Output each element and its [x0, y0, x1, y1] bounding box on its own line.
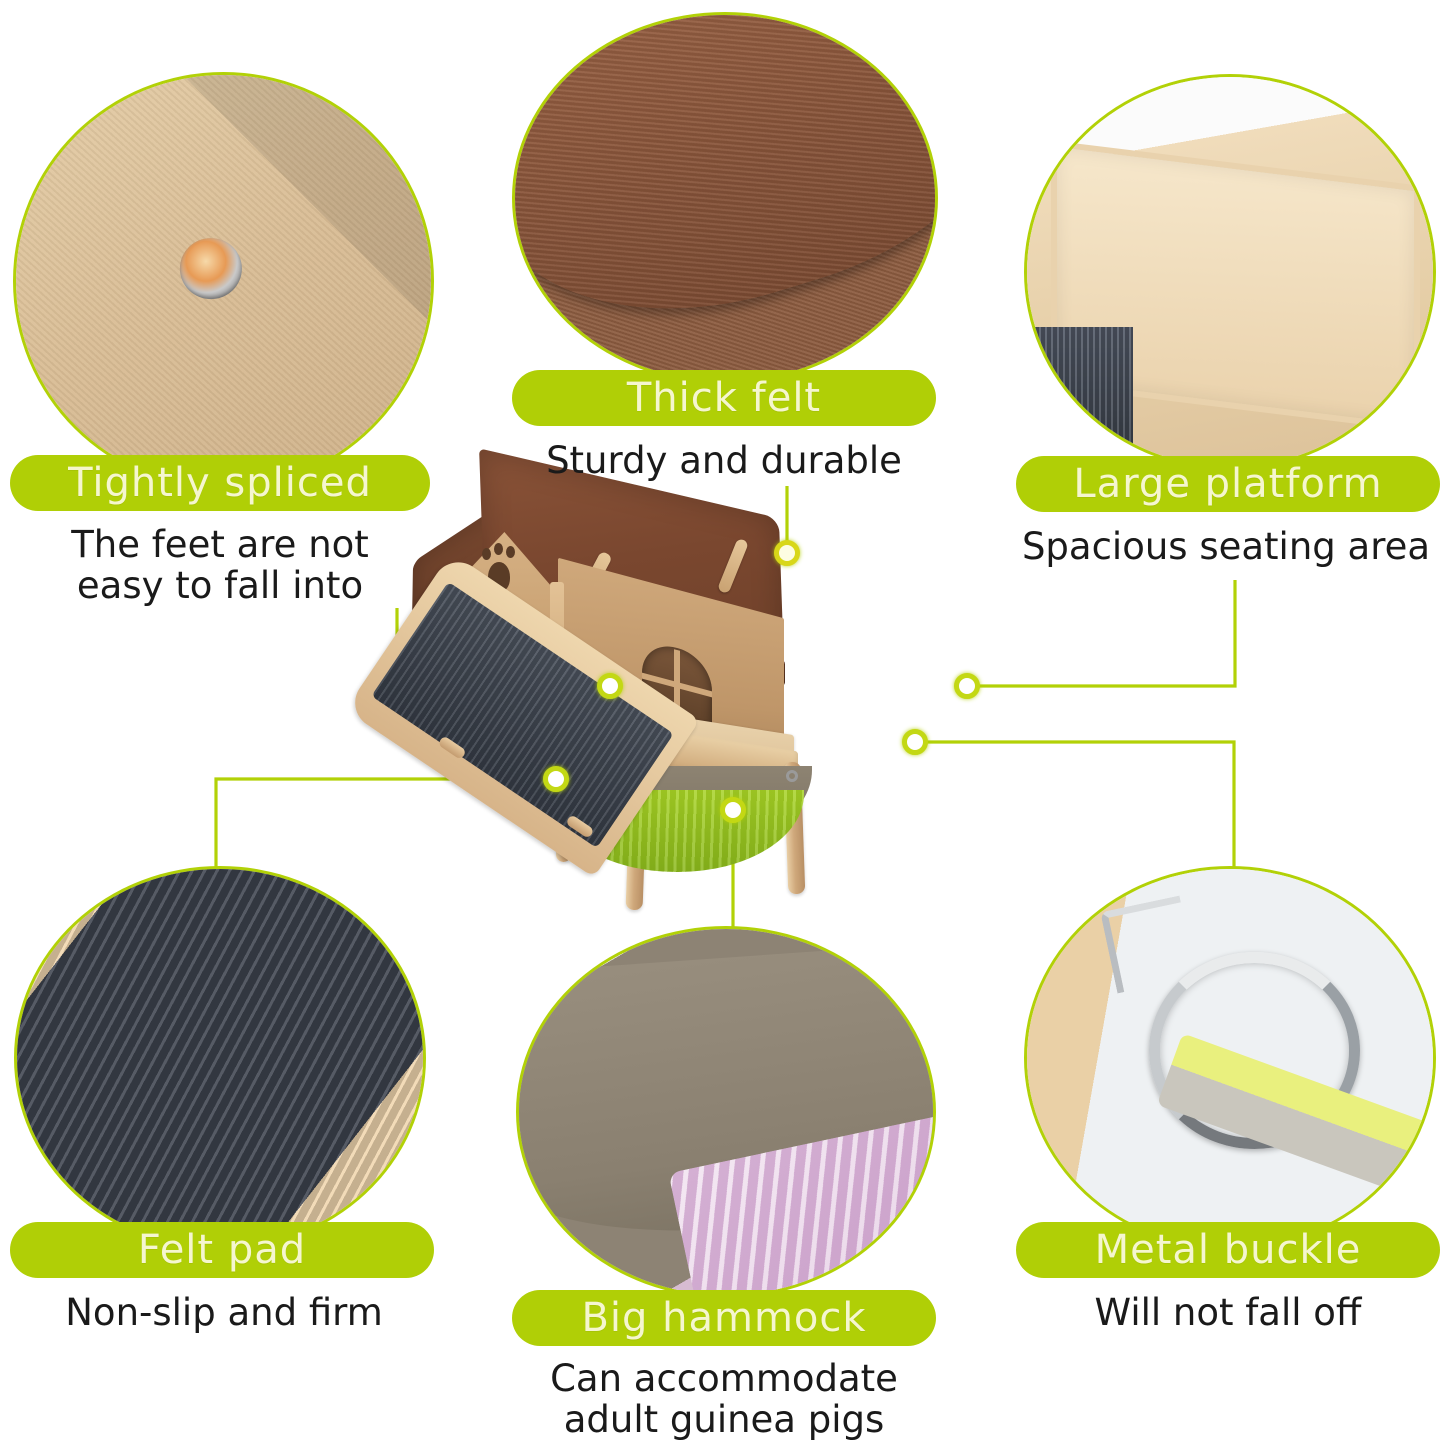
felt-pad-photo-circle [14, 866, 426, 1250]
felt-pad-title-pill: Felt pad [10, 1222, 434, 1278]
thick-felt-subtitle: Sturdy and durable [512, 440, 936, 481]
metal-buckle-title-pill: Metal buckle [1016, 1222, 1440, 1278]
wood-joint-with-screw-image [16, 75, 431, 487]
hotspot-platform-right[interactable] [954, 673, 980, 699]
hotspot-hammock[interactable] [720, 797, 746, 823]
large-platform-photo-circle [1024, 74, 1436, 470]
wooden-platform-tray-image [1027, 77, 1433, 467]
tightly-spliced-subtitle: The feet are not easy to fall into [30, 524, 410, 607]
tightly-spliced-photo-circle [13, 72, 434, 490]
big-hammock-photo-circle [516, 926, 936, 1298]
paw-print-toe-1 [482, 548, 491, 560]
felt-pad-title: Felt pad [138, 1227, 306, 1273]
hotspot-platform-left[interactable] [597, 673, 623, 699]
brown-felt-roof-edge-image [515, 15, 935, 381]
hotspot-roof-felt[interactable] [774, 540, 800, 566]
large-platform-title-pill: Large platform [1016, 456, 1440, 512]
taupe-and-pink-plush-hammock-image [519, 929, 933, 1295]
tightly-spliced-title: Tightly spliced [68, 460, 372, 506]
thick-felt-title: Thick felt [627, 375, 821, 421]
metal-ring-buckle-on-wood-post-image [1027, 869, 1433, 1247]
paw-print-toe-3 [506, 546, 515, 558]
metal-buckle-title: Metal buckle [1095, 1227, 1362, 1273]
hotspot-buckle[interactable] [902, 729, 928, 755]
big-hammock-subtitle: Can accommodate adult guinea pigs [512, 1358, 936, 1441]
tightly-spliced-title-pill: Tightly spliced [10, 455, 430, 511]
thick-felt-photo-circle [512, 12, 938, 384]
grey-ribbed-felt-ramp-image [17, 869, 423, 1247]
infographic-canvas: Tightly spliced The feet are not easy to… [0, 0, 1445, 1456]
hotspot-ramp-felt[interactable] [543, 766, 569, 792]
hammock-clip-right [786, 770, 798, 782]
large-platform-title: Large platform [1073, 461, 1382, 507]
thick-felt-title-pill: Thick felt [512, 370, 936, 426]
large-platform-subtitle: Spacious seating area [1008, 526, 1444, 567]
metal-buckle-subtitle: Will not fall off [1016, 1292, 1440, 1333]
big-hammock-title: Big hammock [581, 1295, 866, 1341]
paw-print-toe-2 [494, 543, 503, 555]
big-hammock-title-pill: Big hammock [512, 1290, 936, 1346]
metal-buckle-photo-circle [1024, 866, 1436, 1250]
felt-pad-subtitle: Non-slip and firm [14, 1292, 434, 1333]
